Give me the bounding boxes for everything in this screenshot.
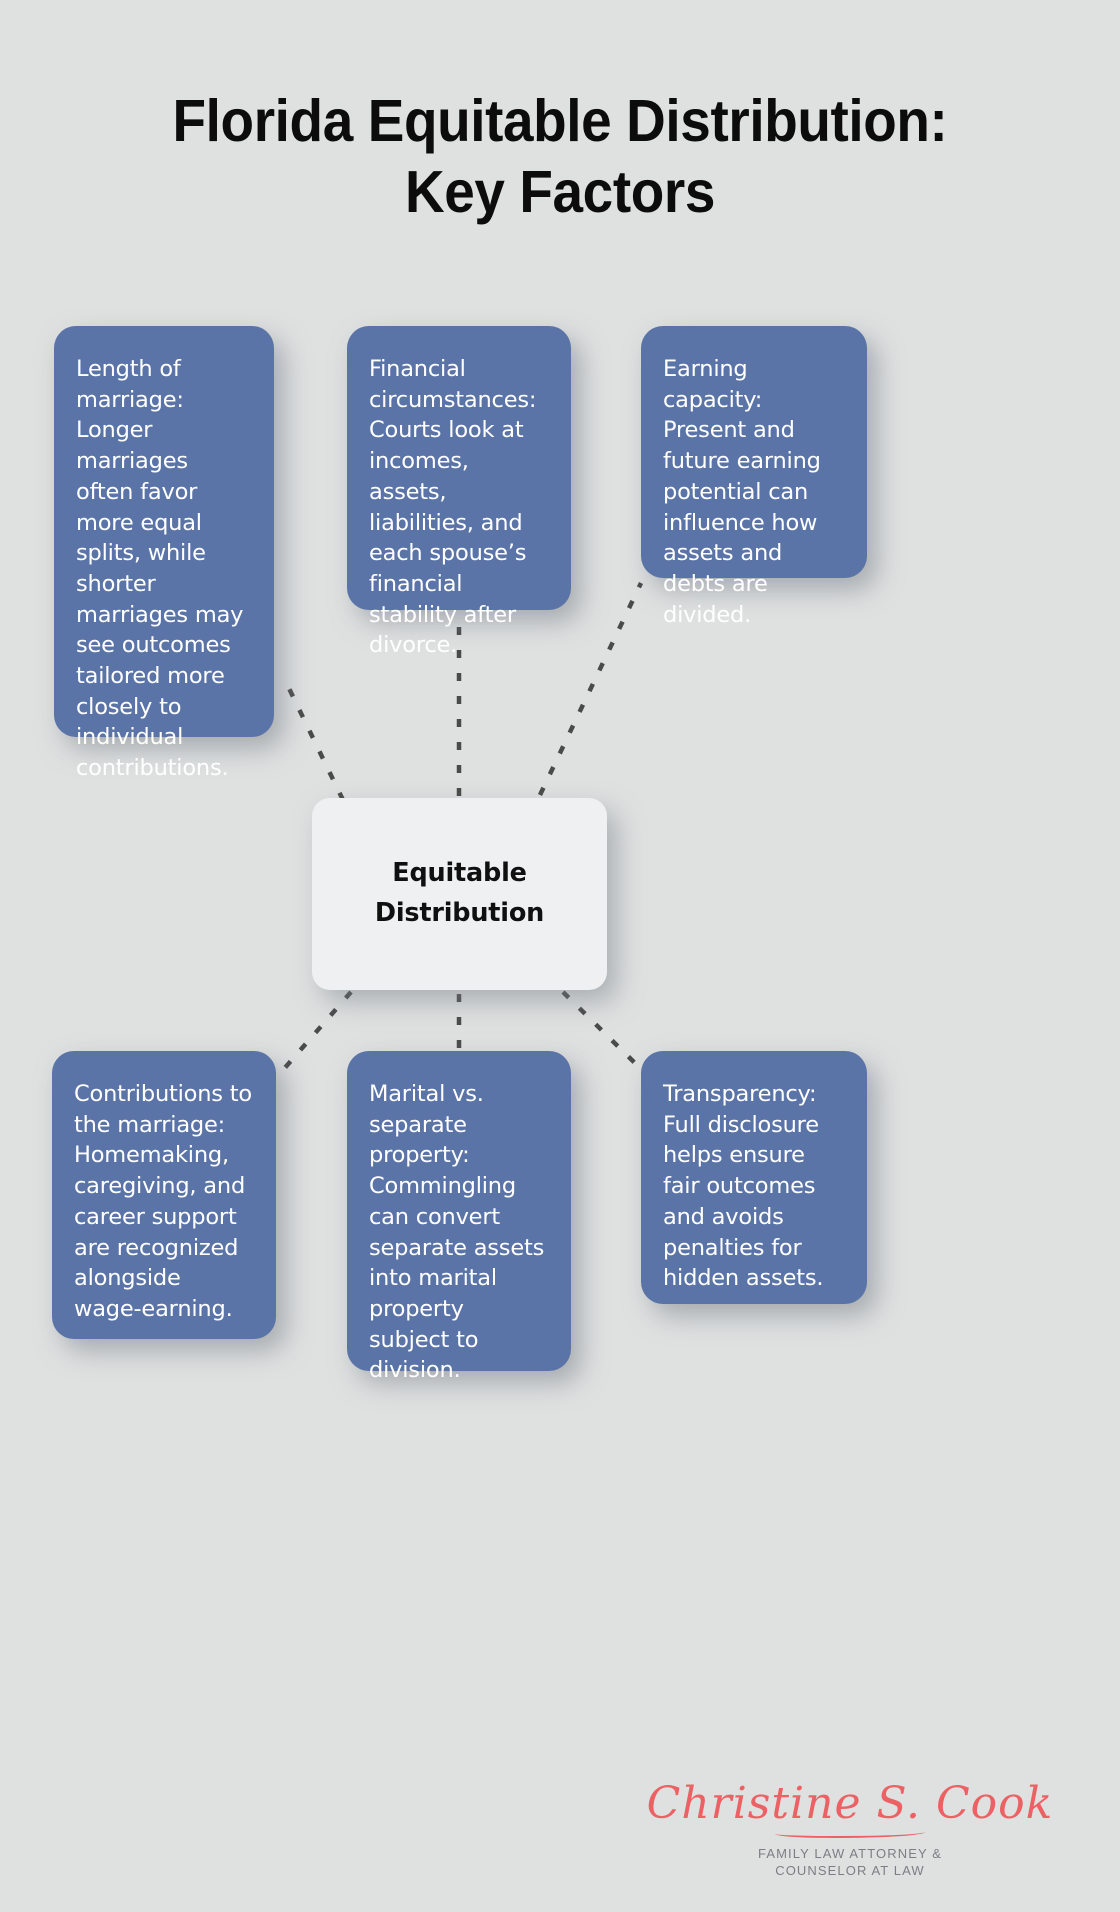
factor-card-contributions-to-marriage: Contributions to the marriage: Homemakin… [52, 1051, 276, 1339]
connector-to-transparency [563, 992, 646, 1074]
factor-card-financial-circumstances: Financial circumstances: Courts look at … [347, 326, 571, 610]
central-node: Equitable Distribution [312, 798, 607, 990]
logo-tagline-line-2: COUNSELOR AT LAW [640, 1862, 1060, 1879]
connector-to-contributions [276, 992, 351, 1078]
central-node-label-line-1: Equitable [375, 854, 544, 894]
connector-to-earning-capacity [540, 583, 641, 795]
infographic-canvas: Florida Equitable Distribution: Key Fact… [0, 0, 1120, 1912]
factor-card-marital-vs-separate-property: Marital vs. separate property: Commingli… [347, 1051, 571, 1371]
logo-tagline-line-1: FAMILY LAW ATTORNEY & [640, 1845, 1060, 1862]
factor-card-earning-capacity: Earning capacity: Present and future ear… [641, 326, 867, 578]
logo-name-script: Christine S. Cook [647, 1778, 1054, 1829]
central-node-label: Equitable Distribution [375, 854, 544, 933]
connector-to-length-of-marriage [283, 676, 343, 800]
factor-card-transparency: Transparency: Full disclosure helps ensu… [641, 1051, 867, 1304]
central-node-label-line-2: Distribution [375, 894, 544, 934]
brand-logo: Christine S. Cook FAMILY LAW ATTORNEY & … [640, 1782, 1060, 1879]
factor-card-length-of-marriage: Length of marriage: Longer marriages oft… [54, 326, 274, 737]
logo-swoosh-icon [775, 1828, 925, 1838]
